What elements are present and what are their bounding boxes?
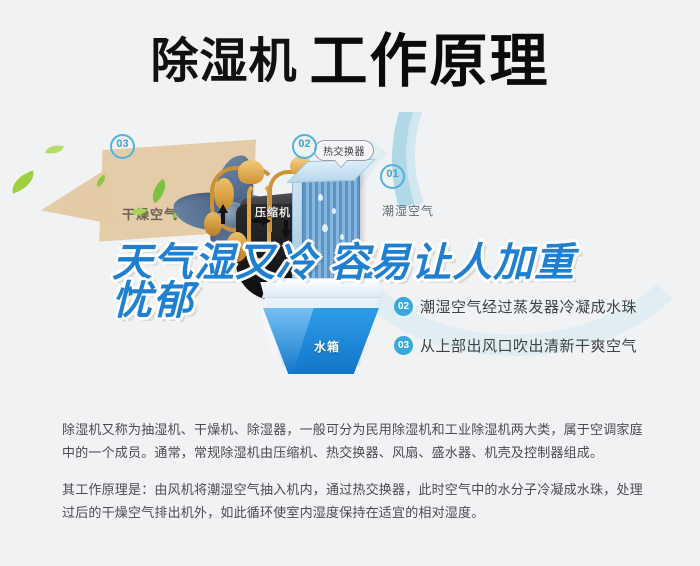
water-droplet-icon <box>318 194 323 201</box>
flow-arrow-right <box>262 216 271 226</box>
heat-exchanger-callout: 热交换器 <box>314 140 374 161</box>
leaf-icon <box>45 142 64 157</box>
legend-list: 02 潮湿空气经过蒸发器冷凝成水珠 03 从上部出风口吹出清新干爽空气 <box>394 296 684 374</box>
page-header: 除湿机 工作原理 <box>0 22 700 102</box>
water-droplet-icon <box>322 224 328 232</box>
flow-arrow-down <box>281 230 291 239</box>
flow-arrow-up <box>218 204 228 213</box>
diagram-badge-01: 01 <box>380 164 405 189</box>
legend-badge-02: 02 <box>394 297 413 316</box>
water-droplet-icon <box>332 208 336 214</box>
flow-arrow-stem <box>221 212 225 224</box>
leaf-icon <box>8 170 38 193</box>
copper-pipe-segment <box>204 212 222 236</box>
wet-air-label: 潮湿空气 <box>382 202 434 219</box>
water-tank-label: 水箱 <box>314 338 340 355</box>
copper-pipe-segment <box>238 160 264 184</box>
list-item: 02 潮湿空气经过蒸发器冷凝成水珠 <box>394 296 684 317</box>
infographic-page: 除湿机 工作原理 干燥空气 压缩机 <box>0 0 700 566</box>
diagram-badge-02: 02 <box>292 134 317 159</box>
compressor-label: 压缩机 <box>255 204 291 220</box>
diagram-badge-03: 03 <box>110 134 135 159</box>
body-paragraph-2: 其工作原理是：由风机将潮湿空气抽入机内，通过热交换器，此时空气中的水分子冷凝成水… <box>62 478 646 524</box>
list-item: 03 从上部出风口吹出清新干爽空气 <box>394 335 684 356</box>
body-copy: 除湿机又称为抽湿机、干燥机、除湿器，一般可分为民用除湿机和工业除湿机两大类，属于… <box>62 418 646 524</box>
page-title-part1: 除湿机 <box>150 38 297 86</box>
legend-text-02: 潮湿空气经过蒸发器冷凝成水珠 <box>420 296 637 317</box>
body-paragraph-1: 除湿机又称为抽湿机、干燥机、除湿器，一般可分为民用除湿机和工业除湿机两大类，属于… <box>62 418 646 464</box>
legend-text-03: 从上部出风口吹出清新干爽空气 <box>420 335 637 356</box>
page-title-part2: 工作原理 <box>310 33 550 91</box>
legend-badge-03: 03 <box>394 336 413 355</box>
water-droplet-icon <box>340 234 344 240</box>
